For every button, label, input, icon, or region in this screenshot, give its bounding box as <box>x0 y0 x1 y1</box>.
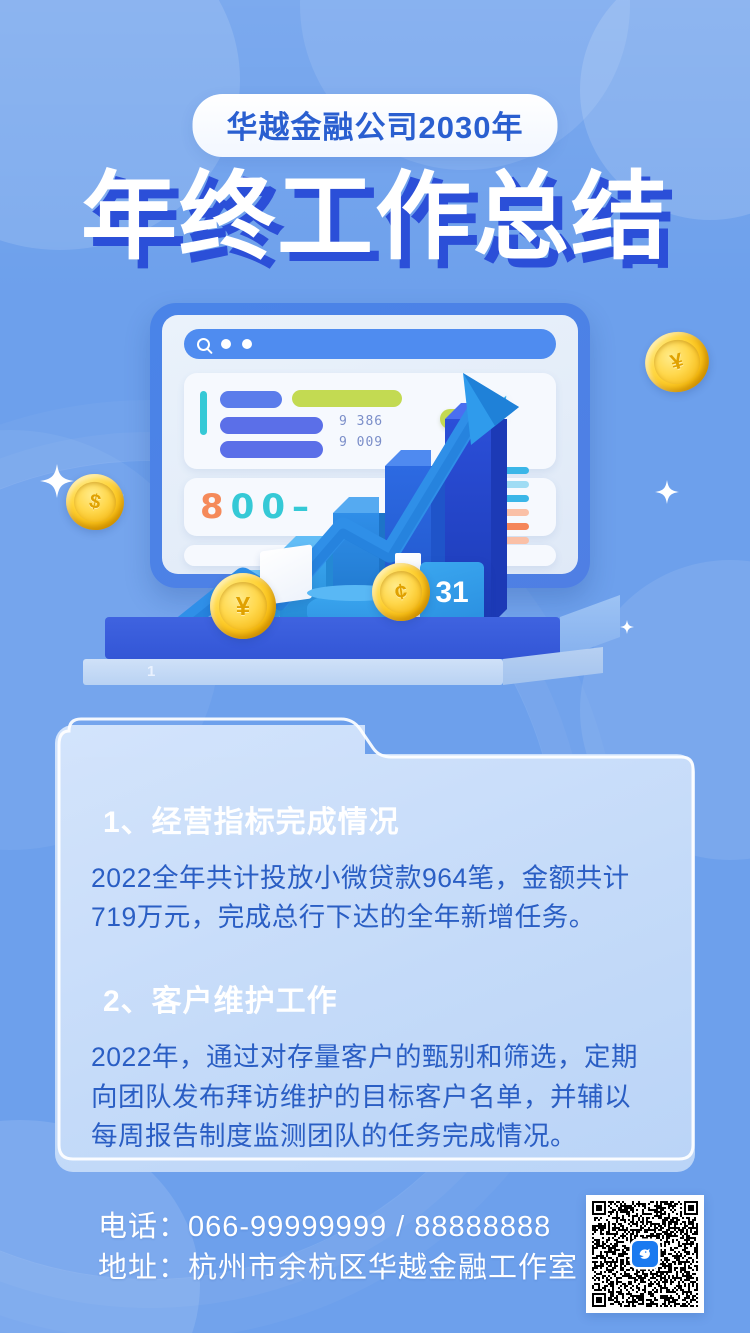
section-body: 2022年，通过对存量客户的甄别和筛选，定期 向团队发布拜访维护的目标客户名单，… <box>91 1038 659 1156</box>
page-title: 年终工作总结 <box>0 166 750 270</box>
hero-illustration: 9 386 9 009 800– <box>75 295 675 715</box>
section-heading: 2、客户维护工作 <box>91 971 374 1026</box>
phone-line: 电话：066-99999999 / 88888888 <box>98 1207 578 1248</box>
section-body: 2022全年共计投放小微贷款964笔，金额共计 719万元，完成总行下达的全年新… <box>91 859 659 937</box>
platform-label: 1 <box>147 663 155 680</box>
section-2: 2、客户维护工作 2022年，通过对存量客户的甄别和筛选，定期 向团队发布拜访维… <box>91 953 659 1156</box>
bird-icon <box>632 1241 658 1267</box>
platform-base <box>83 659 503 685</box>
qr-code[interactable] <box>586 1195 704 1313</box>
prop-card <box>395 553 421 619</box>
footer: 电话：066-99999999 / 88888888 地址：杭州市余杭区华越金融… <box>0 1185 750 1333</box>
card-content: 1、经营指标完成情况 2022全年共计投放小微贷款964笔，金额共计 719万元… <box>55 754 695 1172</box>
section-heading: 1、经营指标完成情况 <box>91 792 436 847</box>
address-line: 地址：杭州市余杭区华越金融工作室 <box>98 1248 578 1289</box>
platform-top <box>105 617 560 659</box>
section-1: 1、经营指标完成情况 2022全年共计投放小微贷款964笔，金额共计 719万元… <box>91 774 659 937</box>
sparkle-icon <box>40 464 74 498</box>
prop-card <box>260 544 312 605</box>
poster-root: 华越金融公司2030年 年终工作总结 ¥ $ <box>0 0 750 1333</box>
calendar-cube: 31 <box>420 562 484 624</box>
company-year-badge: 华越金融公司2030年 <box>193 94 558 157</box>
contact-block: 电话：066-99999999 / 88888888 地址：杭州市余杭区华越金融… <box>98 1207 578 1289</box>
content-card: 1、经营指标完成情况 2022全年共计投放小微贷款964笔，金额共计 719万元… <box>55 707 695 1172</box>
